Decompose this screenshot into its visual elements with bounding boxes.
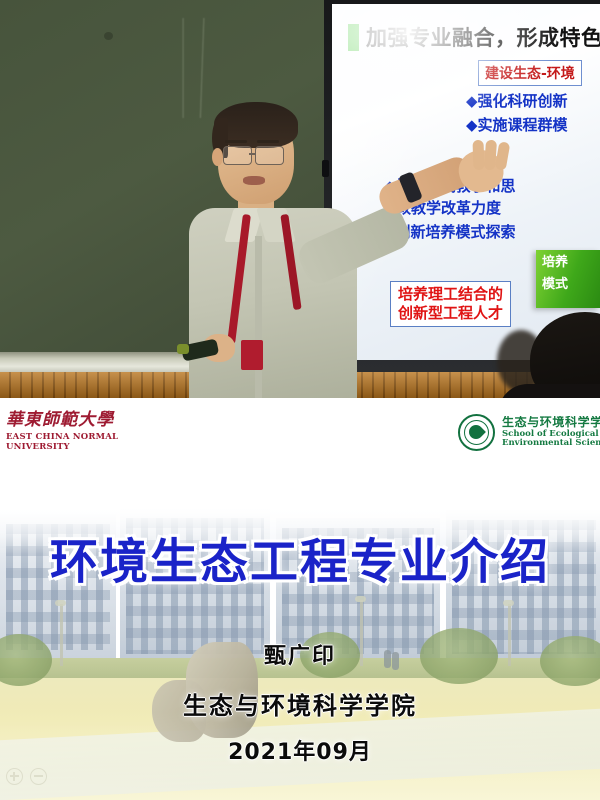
- presenter-brow-left: [225, 140, 247, 143]
- projected-red-line-1: 培养理工结合的: [398, 285, 503, 304]
- lecture-photo: 加强专业融合，形成特色鲜 建设生态-环境 ◆强化科研创新 ◆实施课程群模 ◆加大…: [0, 0, 600, 398]
- ecnu-logo-en: EAST CHINA NORMAL UNIVERSITY: [6, 432, 156, 452]
- projected-red-box: 培养理工结合的 创新型工程人才: [390, 281, 511, 327]
- school-seal-icon: [458, 414, 495, 451]
- presenter: [185, 96, 365, 398]
- finger-1: [472, 140, 484, 170]
- title-slide: 華東師範大學 EAST CHINA NORMAL UNIVERSITY 生态与环…: [0, 398, 600, 800]
- chalk-smudge: [104, 32, 113, 40]
- projected-red-line-2: 创新型工程人才: [398, 304, 503, 323]
- ecnu-logo: 華東師範大學 EAST CHINA NORMAL UNIVERSITY: [6, 412, 156, 452]
- glasses-bridge: [249, 153, 256, 155]
- presenter-ear: [212, 148, 223, 166]
- projected-slide-title-row: 加强专业融合，形成特色鲜: [348, 22, 600, 52]
- presentation-date: 2021年09月: [0, 734, 600, 766]
- seal-arc-text: [465, 419, 487, 427]
- presenter-brow-right: [257, 140, 279, 143]
- projected-bullet-1: ◆强化科研创新: [466, 90, 568, 111]
- school-logo-text: 生态与环境科学学 School of Ecological a Environm…: [502, 416, 600, 448]
- projected-green-line-1: 培养: [536, 250, 600, 272]
- slide-main-title: 环境生态工程专业介绍: [0, 522, 600, 592]
- projected-slide-title: 加强专业融合，形成特色鲜: [366, 22, 600, 52]
- projected-bullet-2: ◆实施课程群模: [466, 114, 568, 135]
- organization-name: 生态与环境科学学院: [0, 686, 600, 721]
- zoom-out-icon[interactable]: [30, 768, 47, 785]
- presenter-name: 甄广印: [0, 638, 600, 670]
- shirt-placket: [255, 236, 262, 398]
- projected-highlight-text: 建设生态-环境: [485, 66, 575, 82]
- school-logo-cn: 生态与环境科学学: [502, 416, 600, 429]
- lanyard-badge: [241, 340, 263, 370]
- zoom-in-icon[interactable]: [6, 768, 23, 785]
- presenter-mouth: [243, 176, 265, 185]
- glasses-lens-left: [223, 146, 252, 165]
- school-logo: 生态与环境科学学 School of Ecological a Environm…: [458, 414, 600, 451]
- presentation-screenshot: 加强专业融合，形成特色鲜 建设生态-环境 ◆强化科研创新 ◆实施课程群模 ◆加大…: [0, 0, 600, 800]
- clicker-tip: [177, 344, 189, 354]
- photo-content: 加强专业融合，形成特色鲜 建设生态-环境 ◆强化科研创新 ◆实施课程群模 ◆加大…: [0, 0, 600, 398]
- school-logo-en-line2: Environmental Scienc: [502, 439, 600, 449]
- glasses-lens-right: [255, 146, 284, 165]
- projected-highlight-box: 建设生态-环境: [478, 60, 582, 86]
- bottom-left-icons: [6, 768, 47, 785]
- projected-green-box: 培养 模式: [536, 250, 600, 308]
- ecnu-logo-cn: 華東師範大學: [6, 412, 156, 430]
- projected-green-line-2: 模式: [536, 272, 600, 294]
- title-accent-bar: [348, 24, 359, 51]
